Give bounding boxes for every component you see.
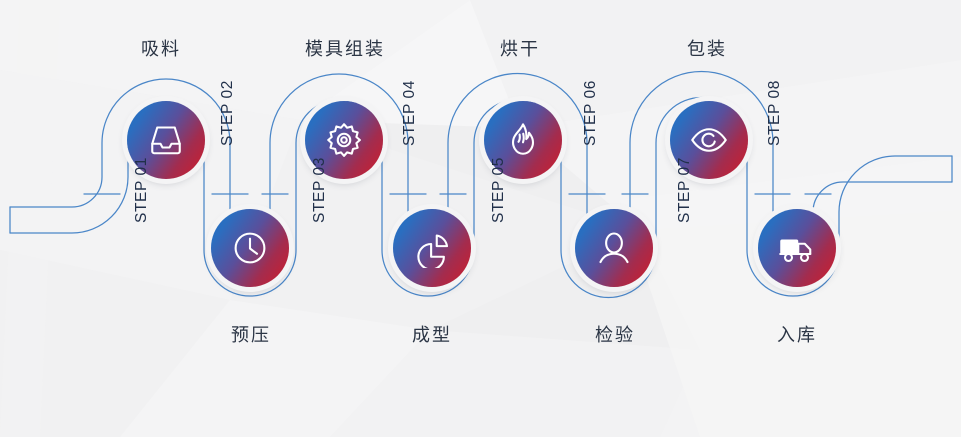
step-caption-3: 模具组装 [305, 35, 385, 61]
step-caption-4: 成型 [412, 321, 452, 347]
clock-icon [230, 228, 270, 268]
step-caption-2: 预压 [231, 321, 271, 347]
step-number-label-3: STEP 03 [311, 157, 329, 223]
step-node-8[interactable] [758, 209, 836, 287]
step-caption-8: 入库 [777, 321, 817, 347]
process-flow-infographic: STEP 01STEP 02STEP 03STEP 04STEP 05STEP … [0, 0, 961, 437]
step-node-4[interactable] [393, 209, 471, 287]
truck-icon [777, 228, 817, 268]
gear-icon [324, 120, 364, 160]
step-number-label-1: STEP 01 [133, 157, 151, 223]
step-number-label-5: STEP 05 [490, 157, 508, 223]
step-caption-1: 吸料 [141, 35, 181, 61]
pie-chart-icon [412, 228, 452, 268]
step-caption-7: 包装 [687, 35, 727, 61]
flame-icon [503, 120, 543, 160]
step-node-6[interactable] [575, 209, 653, 287]
step-number-label-7: STEP 07 [676, 157, 694, 223]
step-number-label-6: STEP 06 [582, 80, 600, 146]
step-caption-6: 检验 [595, 321, 635, 347]
inbox-tray-icon [146, 120, 186, 160]
user-icon [594, 228, 634, 268]
step-node-2[interactable] [211, 209, 289, 287]
step-caption-5: 烘干 [500, 35, 540, 61]
step-number-label-2: STEP 02 [219, 80, 237, 146]
step-number-label-8: STEP 08 [766, 80, 784, 146]
eye-icon [689, 120, 729, 160]
step-number-label-4: STEP 04 [401, 80, 419, 146]
